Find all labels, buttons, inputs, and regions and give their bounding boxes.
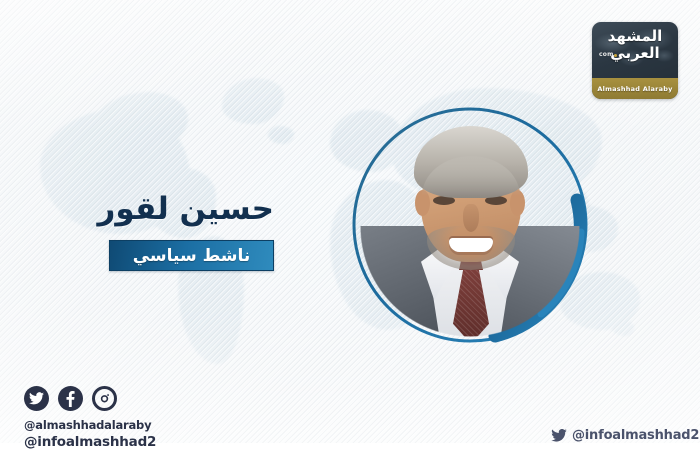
profile-card: المشهد العربي com Almashhad Alaraby	[0, 0, 700, 459]
logo-caption-strip: Almashhad Alaraby	[592, 78, 678, 99]
footer-twitter-handle[interactable]: @infoalmashhad2	[551, 428, 699, 443]
social-handle-secondary[interactable]: @infoalmashhad2	[24, 435, 264, 450]
person-title-text: ناشط سياسي	[133, 246, 251, 266]
social-handle-primary[interactable]: @almashhadalaraby	[24, 418, 264, 433]
social-icon-row	[24, 386, 264, 411]
logo-caption-text: Almashhad Alaraby	[597, 85, 672, 93]
twitter-icon[interactable]	[24, 386, 49, 411]
person-title-badge: ناشط سياسي	[109, 240, 274, 271]
instagram-icon[interactable]	[92, 386, 117, 411]
footer-twitter-handle-text: @infoalmashhad2	[572, 428, 699, 443]
portrait-container	[345, 100, 595, 350]
portrait-photo	[359, 106, 581, 344]
brand-logo[interactable]: المشهد العربي com Almashhad Alaraby	[592, 22, 678, 99]
facebook-icon[interactable]	[58, 386, 83, 411]
logo-com-label: com	[599, 51, 614, 58]
social-block: @almashhadalaraby @infoalmashhad2	[24, 386, 264, 450]
logo-dot-icon	[614, 54, 617, 57]
twitter-icon	[551, 429, 567, 442]
logo-arabic-line1: المشهد	[608, 27, 663, 45]
person-name: حسين لقور	[0, 190, 292, 228]
